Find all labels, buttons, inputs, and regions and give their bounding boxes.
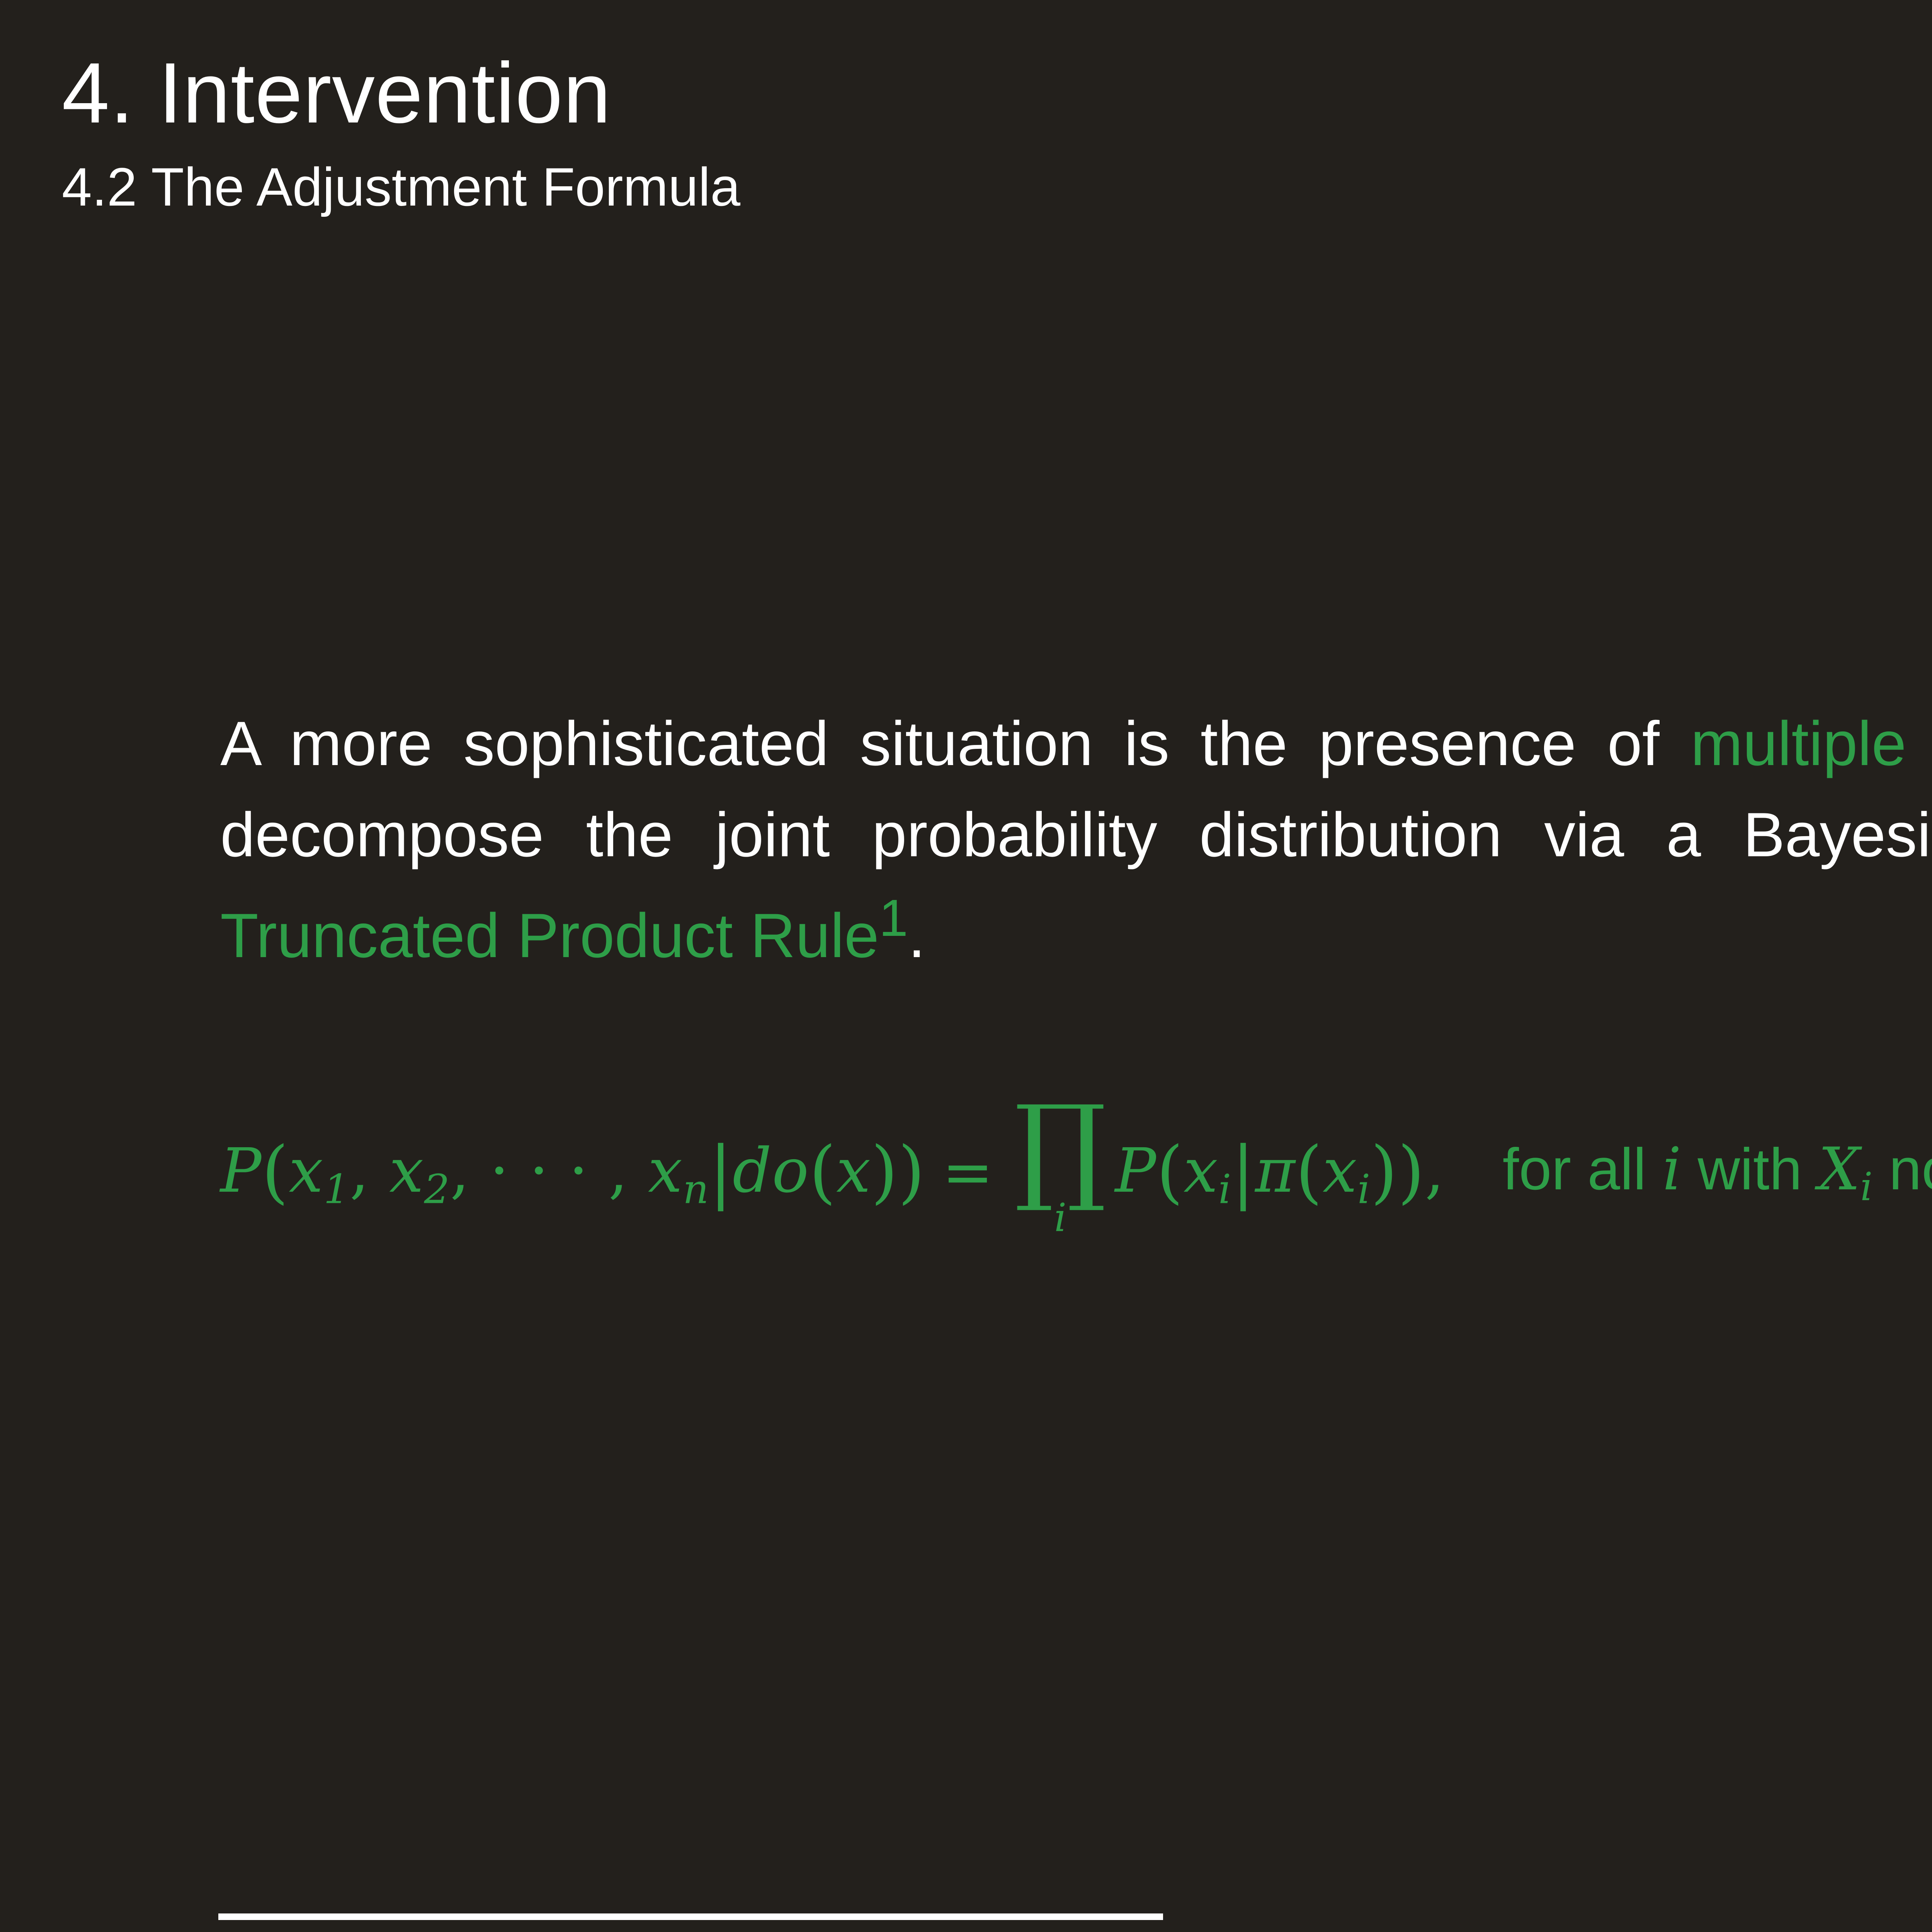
cond-index-i: i <box>1663 1135 1682 1203</box>
product-operator: ∏ i <box>1014 1103 1107 1237</box>
cond-not-in: not in <box>1872 1136 1932 1202</box>
product-symbol-icon: ∏ <box>1014 1103 1107 1193</box>
footnote-separator-rule <box>218 1913 1163 1920</box>
page-title: 4. Intervention <box>62 50 1932 136</box>
body-paragraph: A more sophisticated situation is the pr… <box>220 698 1932 981</box>
eq-lhs-do-close: ) <box>871 1132 898 1211</box>
eq-rhs-x: x <box>1184 1135 1218 1206</box>
eq-rhs-pi-open: ( <box>1296 1132 1323 1211</box>
eq-rhs-comma: , <box>1425 1135 1444 1206</box>
beamer-slide: 4. Intervention 4.2 The Adjustment Formu… <box>0 0 1932 1932</box>
eq-lhs-x2: x <box>389 1135 424 1206</box>
eq-lhs-sub-2: 2 <box>424 1166 450 1213</box>
eq-lhs-do-var: x <box>836 1135 871 1206</box>
eq-lhs-xn: x <box>648 1135 683 1206</box>
para-highlight-truncated-product-rule: Truncated Product Rule <box>220 901 879 971</box>
eq-lhs-sub-n: n <box>683 1166 709 1213</box>
eq-lhs-bar: | <box>709 1132 733 1211</box>
cond-with: with <box>1681 1136 1818 1202</box>
eq-lhs-ellipsis: · · · <box>490 1135 588 1206</box>
eq-lhs-comma-2: , <box>450 1135 490 1206</box>
cond-X: X <box>1818 1135 1860 1203</box>
product-index-label: i <box>1054 1199 1066 1237</box>
eq-lhs-sub-1: 1 <box>323 1166 349 1213</box>
eq-rhs-open-paren: ( <box>1156 1132 1184 1211</box>
eq-lhs-do: do <box>733 1135 809 1206</box>
eq-lhs-do-open: ( <box>809 1132 836 1211</box>
cond-for-all: for all <box>1503 1136 1663 1202</box>
eq-equals-sign: = <box>925 1137 1010 1208</box>
eq-rhs-P: P <box>1115 1135 1156 1206</box>
eq-rhs-pi-sub: i <box>1357 1166 1371 1213</box>
cond-X-sub-i: i <box>1860 1165 1872 1210</box>
eq-lhs-comma-1: , <box>350 1135 389 1206</box>
equation-lhs: P(x1, x2, · · · , xn|do(x)) <box>220 1132 925 1213</box>
eq-rhs-close-paren: ) <box>1398 1132 1425 1211</box>
footnote-reference-marker[interactable]: 1 <box>879 889 908 947</box>
slide-header: 4. Intervention 4.2 The Adjustment Formu… <box>62 50 1932 214</box>
para-segment-0: A more sophisticated situation is the pr… <box>220 709 1690 779</box>
eq-lhs-P: P <box>220 1135 262 1206</box>
equation-condition: for all i with Xi not in X. <box>1503 1135 1932 1209</box>
eq-rhs-bar: | <box>1231 1132 1255 1211</box>
eq-rhs-pi-x: x <box>1323 1135 1357 1206</box>
eq-rhs-pi-close: ) <box>1371 1132 1398 1211</box>
slide-body: A more sophisticated situation is the pr… <box>220 636 1932 1044</box>
display-equation: P(x1, x2, · · · , xn|do(x)) = ∏ i P(xi|π… <box>220 1105 1932 1240</box>
equation-rhs: P(xi|π(xi)), <box>1115 1132 1445 1213</box>
eq-rhs-sub-i: i <box>1218 1166 1231 1213</box>
para-highlight-interventions: multiple interventions <box>1690 709 1932 779</box>
eq-lhs-x1: x <box>289 1135 323 1206</box>
eq-lhs-close-paren: ) <box>898 1132 925 1211</box>
eq-rhs-pi: π <box>1255 1135 1296 1206</box>
eq-lhs-open-paren: ( <box>262 1132 289 1211</box>
page-subtitle: 4.2 The Adjustment Formula <box>62 160 1932 214</box>
para-segment-5: . <box>908 901 925 971</box>
eq-lhs-comma-3: , <box>588 1135 648 1206</box>
